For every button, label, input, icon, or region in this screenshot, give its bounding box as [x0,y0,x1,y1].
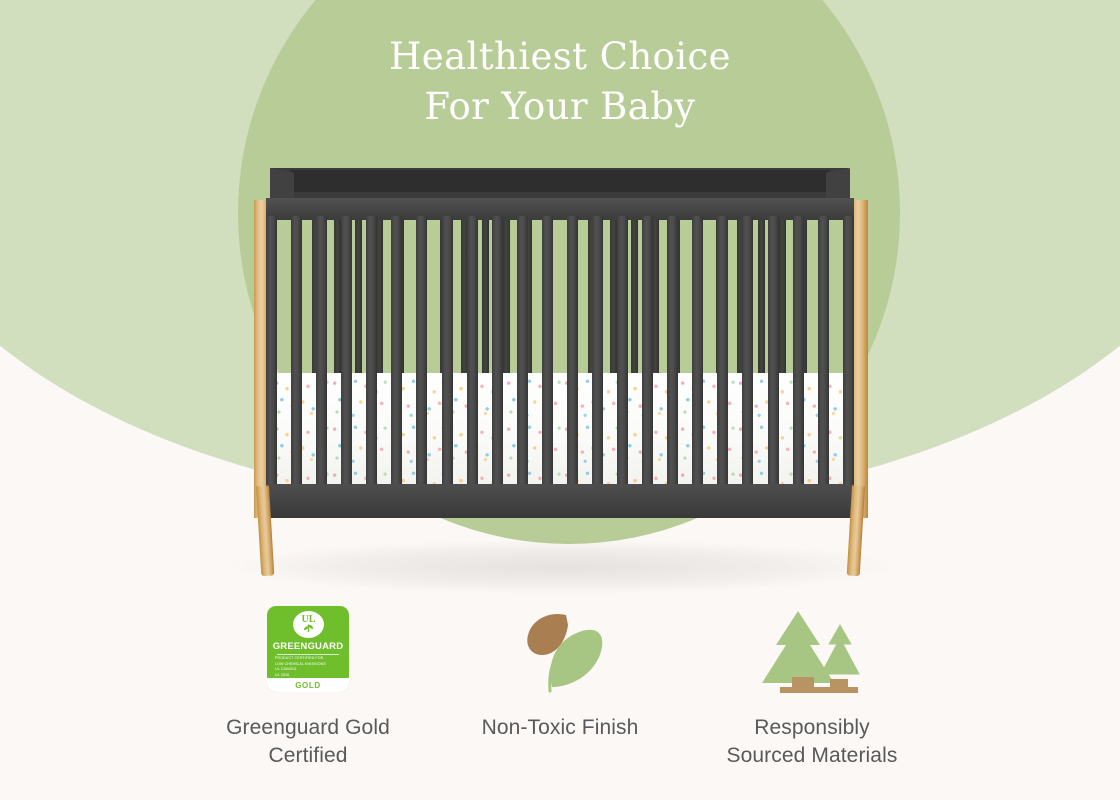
feature-label-line-2: Sourced Materials [727,742,898,770]
feature-non-toxic: Non-Toxic Finish [434,600,686,742]
feature-label-line-2: Certified [226,742,390,770]
feature-label-line-1: Non-Toxic Finish [482,714,639,742]
ul-leaf-mark: UL [293,611,324,638]
greenguard-fine-print: PRODUCT CERTIFIED FOR LOW CHEMICAL EMISS… [275,656,341,678]
svg-text:UL: UL [301,614,315,625]
feature-label-line-1: Greenguard Gold [226,714,390,742]
feature-list: UL GREENGUARD PRODUCT CERTIFIED FOR LOW … [0,600,1120,770]
page-title: Healthiest Choice For Your Baby [0,32,1120,133]
promo-banner: Healthiest Choice For Your Baby [0,0,1120,800]
greenguard-wordmark: GREENGUARD [273,641,344,652]
two-leaves-icon [512,600,608,698]
greenguard-tier-bar: GOLD [267,678,349,692]
feature-label-greenguard: Greenguard Gold Certified [226,714,390,770]
pine-trees-stumps-icon [754,600,870,698]
feature-label-line-1: Responsibly [727,714,898,742]
feature-label-sourced-materials: Responsibly Sourced Materials [727,714,898,770]
feature-sourced-materials: Responsibly Sourced Materials [686,600,938,770]
crib-front-slats [266,216,854,484]
feature-label-non-toxic: Non-Toxic Finish [482,714,639,742]
crib-bottom-rail [266,484,854,518]
headline-line-1: Healthiest Choice [0,32,1120,82]
crib-back-rail [290,170,830,192]
feature-greenguard: UL GREENGUARD PRODUCT CERTIFIED FOR LOW … [182,600,434,770]
greenguard-gold-badge-icon: UL GREENGUARD PRODUCT CERTIFIED FOR LOW … [267,600,349,698]
headline-line-2: For Your Baby [0,82,1120,132]
product-image-crib [248,168,874,578]
